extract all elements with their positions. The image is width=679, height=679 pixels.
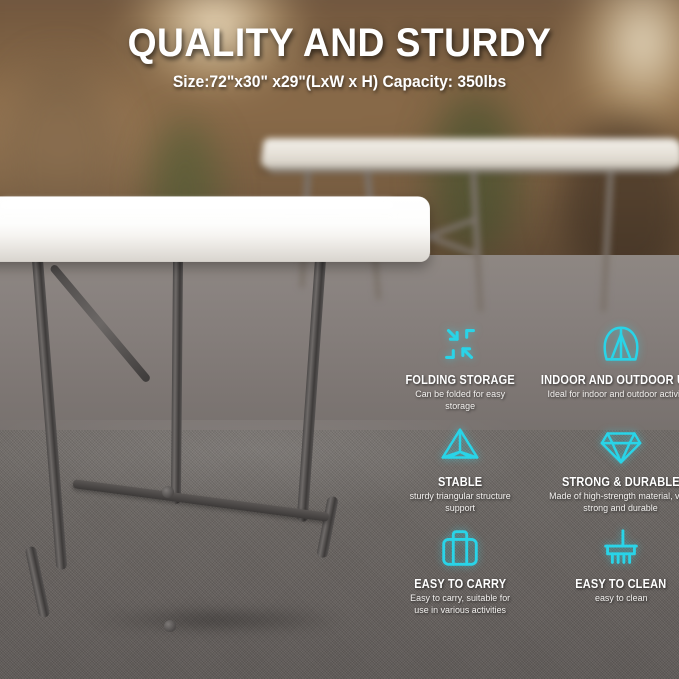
feature-description: Easy to carry, suitable for use in vario… (402, 593, 518, 618)
folding-arrows-icon (437, 318, 483, 370)
feature-title: STABLE (438, 475, 482, 489)
table-top-surface (0, 196, 430, 262)
feature-easy-to-clean: EASY TO CLEAN easy to clean (528, 522, 679, 618)
product-image-stage: QUALITY AND STURDY Size:72"x30" x29"(LxW… (0, 0, 679, 679)
table-hinge (162, 486, 174, 498)
table-cross-brace (73, 479, 330, 522)
table-diagonal-support (49, 263, 152, 383)
table-leg-front-left-lower (25, 546, 51, 619)
feature-title: STRONG & DURABLE (562, 475, 679, 489)
table-top-highlight (0, 199, 396, 221)
feature-easy-to-carry: EASY TO CARRY Easy to carry, suitable fo… (396, 522, 524, 618)
briefcase-icon (437, 522, 483, 574)
header-block: QUALITY AND STURDY Size:72"x30" x29"(LxW… (0, 22, 679, 92)
background-table-leg (600, 170, 613, 312)
feature-stable: STABLE sturdy triangular structure suppo… (396, 420, 524, 516)
table-leg-front-right-lower (316, 496, 339, 559)
feature-indoor-outdoor-use: INDOOR AND OUTDOOR USE Ideal for indoor … (528, 318, 679, 414)
background-table-top (260, 138, 679, 168)
background-table-leg (470, 172, 483, 312)
feature-description: sturdy triangular structure support (402, 491, 518, 516)
tent-icon (598, 318, 644, 370)
feature-description: Made of high-strength material, very str… (537, 491, 679, 516)
pyramid-icon (437, 420, 483, 472)
table-hinge (164, 620, 176, 632)
feature-grid: FOLDING STORAGE Can be folded for easy s… (396, 318, 672, 618)
feature-title: INDOOR AND OUTDOOR USE (541, 373, 679, 387)
table-leg-front-right (297, 254, 327, 522)
feature-strong-durable: STRONG & DURABLE Made of high-strength m… (528, 420, 679, 516)
table-leg-front-left (32, 254, 68, 570)
foreground-folding-table (0, 196, 446, 636)
feature-description: Can be folded for easy storage (402, 389, 518, 414)
feature-folding-storage: FOLDING STORAGE Can be folded for easy s… (396, 318, 524, 414)
feature-title: EASY TO CLEAN (575, 577, 666, 591)
page-subtitle: Size:72"x30" x29"(LxW x H) Capacity: 350… (17, 73, 662, 92)
diamond-icon (598, 420, 644, 472)
table-leg-middle (171, 254, 183, 504)
feature-description: Ideal for indoor and outdoor activities (548, 389, 679, 401)
brush-icon (598, 522, 644, 574)
feature-title: EASY TO CARRY (414, 577, 506, 591)
feature-description: easy to clean (595, 593, 648, 605)
feature-title: FOLDING STORAGE (405, 373, 514, 387)
page-title: QUALITY AND STURDY (24, 22, 655, 64)
